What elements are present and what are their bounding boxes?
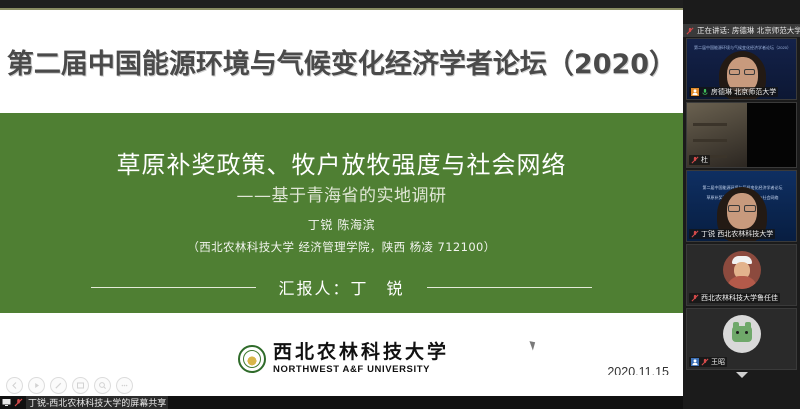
video-tile-2[interactable]: 杜 [686,102,797,168]
muted-mic-icon [691,156,699,164]
pencil-icon[interactable] [50,377,67,394]
active-speaker-banner: 正在讲话: 房德琳 北京师范大学 [683,24,800,37]
zoom-meeting-window: 会议录制中 第二届中国能源环境与气候变化经济学者论坛（2020） 草原补奖政策、… [0,0,800,409]
university-seal-icon [238,345,266,373]
mouse-pointer-icon [529,339,537,350]
shared-screen-topbar [0,0,683,8]
video-tile-1[interactable]: 第二届中国能源环境与气候变化经济学者论坛（2020） 房德琳 北京师范大学 [686,38,797,100]
tile-5-avatar-eye-left [736,331,739,334]
divider-left [91,287,256,288]
affiliation: （西北农林科技大学 经济管理学院，陕西 杨凌 712100） [0,239,683,255]
tile-3-glasses-right [744,205,756,212]
tile-4-label: 西北农林科技大学鲁任佳 [689,293,780,303]
logo-text-cn: 西北农林科技大学 [273,343,449,362]
sidebar-bottom-gap [683,386,800,409]
screen-icon[interactable] [72,377,89,394]
tile-2-name: 杜 [701,155,708,165]
presenter-name: 汇报人：丁 锐 [278,275,404,299]
tile-2-shelf-2 [693,139,727,142]
tile-5-avatar-body [732,326,752,342]
muted-mic-icon [14,398,23,407]
ellipsis-icon[interactable] [116,377,133,394]
participants-sidebar[interactable]: 正在讲话: 房德琳 北京师范大学 第二届中国能源环境与气候变化经济学者论坛（20… [683,0,800,409]
muted-mic-icon [691,230,699,238]
presentation-slide: 第二届中国能源环境与气候变化经济学者论坛（2020） 草原补奖政策、牧户放牧强度… [0,10,683,375]
tile-3-label: 丁锐 西北农林科技大学 [689,229,775,239]
muted-mic-icon [686,27,694,35]
shared-screen-area[interactable]: 会议录制中 第二届中国能源环境与气候变化经济学者论坛（2020） 草原补奖政策、… [0,0,683,409]
video-tile-5[interactable]: 王昭 [686,308,797,370]
slide-toolbar[interactable] [6,377,133,394]
previous-slide-button[interactable] [6,377,23,394]
logo-text-wrap: 西北农林科技大学 NORTHWEST A&F UNIVERSITY [273,343,449,375]
divider-right [427,287,592,288]
tile-5-avatar-eye-right [745,331,748,334]
magnifier-icon[interactable] [94,377,111,394]
tile-1-label: 房德琳 北京师范大学 [689,87,778,97]
tile-5-name: 王昭 [711,357,725,367]
university-logo: 西北农林科技大学 NORTHWEST A&F UNIVERSITY [238,343,449,375]
tile-5-avatar [723,315,761,353]
slide-green-band: 草原补奖政策、牧户放牧强度与社会网络 ——基于青海省的实地调研 丁锐 陈海滨 （… [0,113,683,313]
presentation-subtitle: ——基于青海省的实地调研 [0,181,683,206]
shared-screen-bottom-strip: 丁锐-西北农林科技大学的屏幕共享 [0,375,683,409]
logo-text-en: NORTHWEST A&F UNIVERSITY [273,364,449,375]
tile-1-glasses-left [729,69,740,75]
tile-4-avatar-body [727,276,757,289]
participant-icon [691,88,699,96]
participant-icon [691,358,699,366]
tile-1-glasses-right [744,69,755,75]
tile-3-name: 丁锐 西北农林科技大学 [701,229,773,239]
chevron-down-icon[interactable] [736,372,748,378]
share-status-bar: 丁锐-西北农林科技大学的屏幕共享 [0,396,683,409]
active-speaker-text: 正在讲话: 房德琳 北京师范大学 [697,25,800,36]
tile-2-shelf-1 [693,123,727,126]
tile-5-label: 王昭 [689,357,727,367]
tile-4-avatar [723,251,761,289]
share-status-text: 丁锐-西北农林科技大学的屏幕共享 [26,396,168,409]
tile-3-glasses-left [728,205,740,212]
play-button[interactable] [28,377,45,394]
mic-icon [701,88,709,96]
tile-4-name: 西北农林科技大学鲁任佳 [701,293,778,303]
screen-share-icon [2,398,11,407]
tile-1-name: 房德琳 北京师范大学 [711,87,776,97]
video-tile-4[interactable]: 西北农林科技大学鲁任佳 [686,244,797,306]
tile-2-label: 杜 [689,155,710,165]
muted-mic-icon [691,294,699,302]
tile-1-slide-text: 第二届中国能源环境与气候变化经济学者论坛（2020） [691,44,794,51]
forum-title: 第二届中国能源环境与气候变化经济学者论坛（2020） [0,42,683,81]
video-tile-3[interactable]: 第二届中国能源环境与气候变化经济学者论坛 草原补奖政策、牧户放牧强度与社会网络 … [686,170,797,242]
authors: 丁锐 陈海滨 [0,216,683,233]
presenter-row: 汇报人：丁 锐 [0,275,683,299]
presentation-title: 草原补奖政策、牧户放牧强度与社会网络 [0,145,683,180]
muted-mic-icon [701,358,709,366]
